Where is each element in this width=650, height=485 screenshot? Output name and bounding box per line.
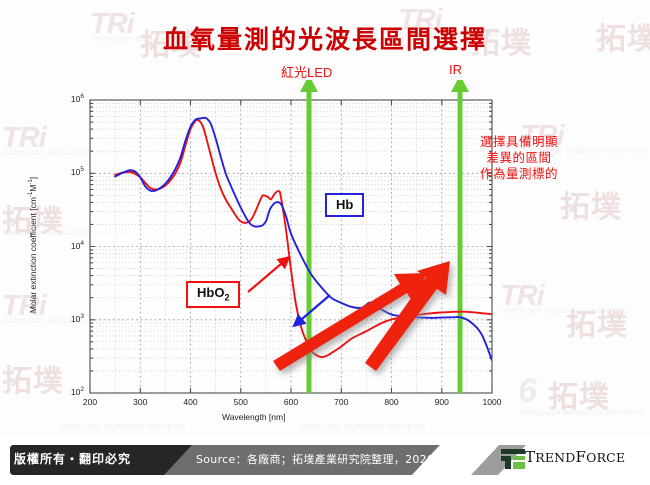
footer-source: Source：各廠商；拓墣產業研究院整理，2020/08	[196, 451, 453, 467]
y-axis-title-text: Molar extinction coefficient [cm	[28, 197, 38, 313]
y-axis-title-text2: M	[28, 185, 38, 192]
y-tick-label: 106	[54, 93, 84, 104]
slide-canvas: TRi TOPOLOGY RESEARCH INSTITUTE 拓墣 TRi T…	[0, 0, 650, 485]
page-title: 血氧量測的光波長區間選擇	[0, 20, 650, 56]
x-tick-label: 700	[321, 397, 361, 407]
x-tick-label: 300	[120, 397, 160, 407]
callout-hb[interactable]: Hb	[325, 193, 364, 217]
logo-t: T	[525, 448, 535, 466]
marker-stem-ir	[458, 80, 463, 102]
y-axis-title-text3: ]	[28, 177, 38, 179]
callout-hbo2-sub: 2	[224, 293, 229, 303]
y-tick-label: 105	[54, 166, 84, 177]
spectrum-chart	[0, 80, 650, 430]
footer: 版權所有・翻印必究 Source：各廠商；拓墣產業研究院整理，2020/08 T…	[0, 437, 650, 485]
note-line-2: 差異的區間	[455, 150, 583, 166]
footer-copyright: 版權所有・翻印必究	[14, 450, 131, 467]
x-tick-label: 600	[271, 397, 311, 407]
x-tick-label: 800	[372, 397, 412, 407]
logo-orce: ORCE	[586, 450, 625, 465]
y-tick-label: 103	[54, 313, 84, 324]
marker-label-ir: IR	[449, 62, 462, 77]
y-tick-label: 104	[54, 240, 84, 251]
callout-hbo2[interactable]: HbO2	[186, 281, 240, 308]
x-tick-label: 200	[70, 397, 110, 407]
trendforce-logo-icon	[500, 447, 526, 471]
trendforce-logo-text: TRENDFORCE	[525, 448, 625, 466]
logo-f: F	[576, 448, 587, 466]
note-line-1: 選擇具備明顯	[455, 134, 583, 150]
x-tick-label: 1000	[472, 397, 512, 407]
callout-hbo2-text: HbO	[197, 285, 224, 300]
marker-label-red-led: 紅光LED	[281, 62, 332, 81]
x-axis-title: Wavelength [nm]	[222, 412, 285, 422]
x-tick-label: 900	[422, 397, 462, 407]
logo-rend: REND	[535, 450, 575, 465]
y-tick-label: 102	[54, 386, 84, 397]
chart-container: 2003004005006007008009001000 10210310410…	[0, 80, 650, 430]
annotation-note-right: 選擇具備明顯 差異的區間 作為量測標的	[455, 134, 583, 182]
y-axis-title: Molar extinction coefficient [cm-1M-1]	[28, 150, 38, 340]
x-tick-label: 400	[171, 397, 211, 407]
note-line-3: 作為量測標的	[455, 166, 583, 182]
x-tick-label: 500	[221, 397, 261, 407]
marker-stem-red-led	[307, 80, 312, 102]
